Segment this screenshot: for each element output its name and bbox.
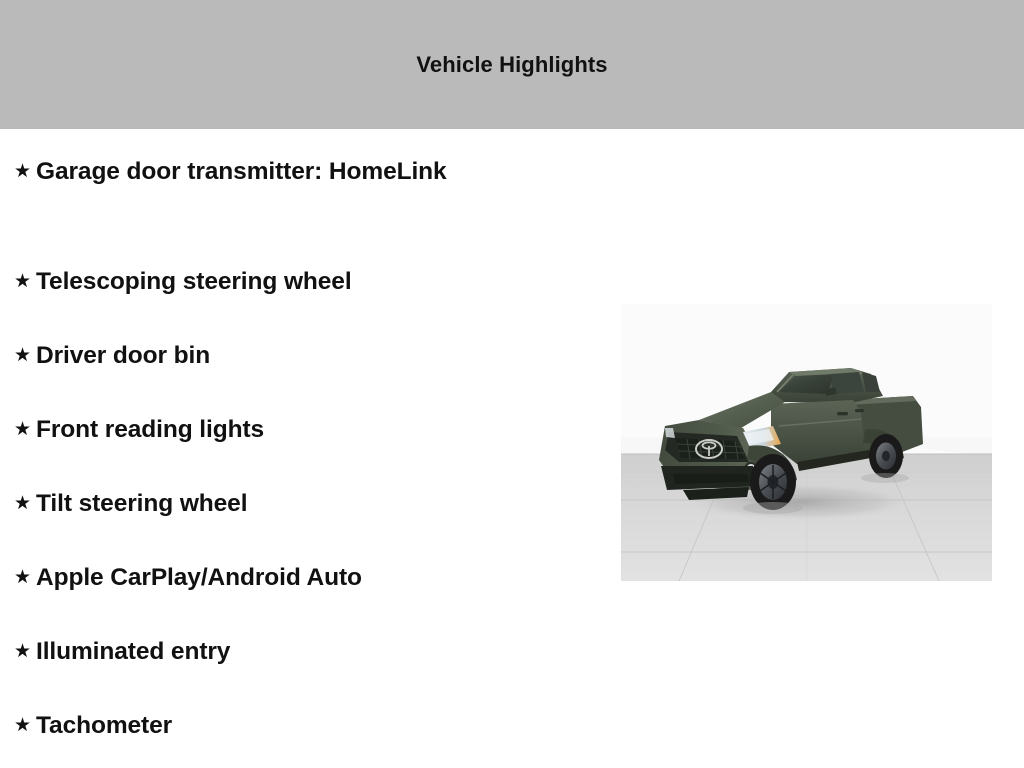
front-wheel-shadow (743, 502, 803, 514)
front-wheel (750, 454, 796, 510)
star-icon: ★ (14, 635, 36, 668)
list-item: ★ Apple CarPlay/Android Auto (14, 561, 574, 594)
list-item-label: Driver door bin (36, 339, 466, 372)
star-icon: ★ (14, 709, 36, 742)
rear-wheel-shadow (861, 473, 909, 483)
star-icon: ★ (14, 155, 36, 188)
star-icon: ★ (14, 265, 36, 298)
list-item: ★ Telescoping steering wheel (14, 265, 574, 298)
list-item: ★ Driver door bin (14, 339, 574, 372)
list-item: ★ Tilt steering wheel (14, 487, 574, 520)
list-item-label: Telescoping steering wheel (36, 265, 466, 298)
list-item: ★ Tachometer (14, 709, 574, 742)
list-item-label: Garage door transmitter: HomeLink (36, 155, 466, 188)
star-icon: ★ (14, 413, 36, 446)
toyota-tacoma-illustration (621, 304, 992, 581)
list-item: ★ Garage door transmitter: HomeLink (14, 155, 574, 188)
list-item-label: Tilt steering wheel (36, 487, 466, 520)
rear-wheel (869, 434, 903, 478)
star-icon: ★ (14, 339, 36, 372)
list-item-label: Front reading lights (36, 413, 466, 446)
list-item-label: Illuminated entry (36, 635, 466, 668)
vehicle-highlights-list: ★ Garage door transmitter: HomeLink ★ Te… (0, 129, 600, 768)
list-item-label: Tachometer (36, 709, 466, 742)
list-item-label: Apple CarPlay/Android Auto (36, 561, 466, 594)
star-icon: ★ (14, 561, 36, 594)
header-band: Vehicle Highlights (0, 0, 1024, 129)
list-item: ★ Front reading lights (14, 413, 574, 446)
star-icon: ★ (14, 487, 36, 520)
list-item: ★ Illuminated entry (14, 635, 574, 668)
vehicle-photo (621, 304, 992, 581)
page-title: Vehicle Highlights (0, 52, 1024, 78)
